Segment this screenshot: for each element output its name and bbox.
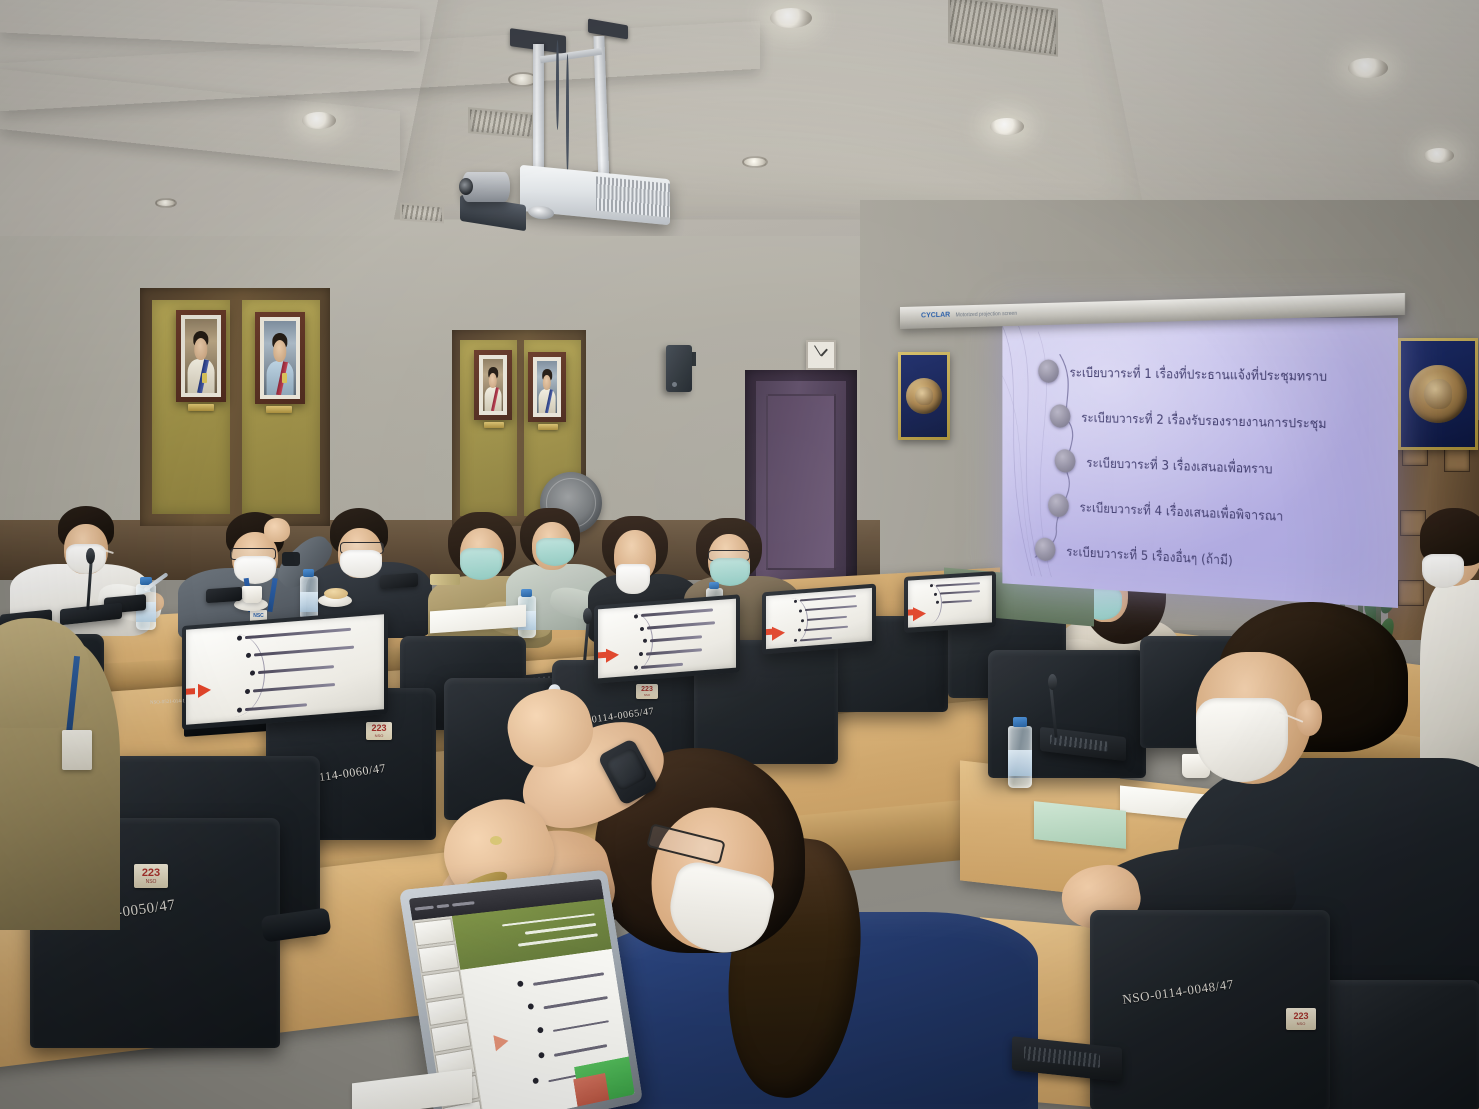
- agenda-list: ระเบียบวาระที่ 1 เรื่องที่ประธานแจ้งที่ป…: [1037, 359, 1391, 603]
- agenda-bullet-icon: [245, 689, 250, 694]
- agenda-bullet-icon: [640, 626, 644, 630]
- monitor-agenda-item: [634, 658, 733, 670]
- agenda-bullet-icon: [639, 652, 643, 656]
- agenda-item-text-line: [936, 582, 980, 587]
- monitor-agenda-item: [930, 581, 990, 588]
- attendee-2-hand: [264, 518, 290, 542]
- monitor-agenda-item: [634, 606, 733, 618]
- sticker-subtext: NSO: [1297, 1021, 1306, 1026]
- agenda-bullet-icon: [1038, 359, 1059, 383]
- agenda-item-text-line: [533, 973, 604, 986]
- slide-arrow-tail: [186, 688, 195, 695]
- agenda-bullet-icon: [799, 609, 802, 612]
- monitor-agenda-item: [798, 623, 870, 632]
- agenda-bullet-icon: [237, 707, 242, 712]
- bottle-cap: [709, 582, 719, 589]
- monitor-agenda-item: [237, 696, 380, 712]
- monitor-agenda-item: [794, 594, 870, 603]
- slide-content: [460, 949, 635, 1109]
- monitor-agenda-item: [640, 619, 733, 630]
- royal-portrait-queen: [255, 312, 305, 404]
- toolbar-item[interactable]: [437, 904, 450, 908]
- attendee-3-face-mask: [340, 550, 382, 578]
- monitor-screen: [186, 614, 384, 725]
- chair-asset-tag: NSO-0114-0048/47: [1121, 976, 1235, 1007]
- agenda-item-text-line: [805, 605, 857, 611]
- monitor-agenda-item: [237, 625, 380, 641]
- royal-portrait-princess: [528, 352, 566, 422]
- agenda-bullet-icon: [798, 629, 801, 632]
- sticker-subtext: NSO: [375, 733, 384, 738]
- microphone-head: [583, 608, 592, 624]
- monitor-agenda-item: [934, 589, 990, 595]
- chair-inventory-sticker: 223 NSO: [1286, 1008, 1316, 1030]
- agenda-item-text-line: [807, 616, 847, 621]
- agenda-bullet-icon: [936, 601, 939, 604]
- toolbar-item[interactable]: [452, 901, 475, 906]
- agenda-item: ระเบียบวาระที่ 4 เรื่องเสนอเพื่อพิจารณา: [1048, 493, 1390, 532]
- monitor-agenda-item: [639, 645, 733, 656]
- agenda-item-text-line: [254, 646, 354, 657]
- agenda-bullet-icon: [934, 592, 937, 595]
- screen-brand-label: CYCLAR Motorized projection screen: [918, 310, 1017, 320]
- agenda-bullet-icon: [1050, 404, 1071, 428]
- office-chair[interactable]: NSO-0114-0048/47 223 NSO: [1090, 910, 1330, 1109]
- agenda-item-text-line: [641, 663, 683, 669]
- monitor-agenda-list: [930, 581, 990, 610]
- agenda-item-text-line: [553, 1020, 609, 1032]
- coffee-cup: [242, 586, 262, 603]
- sticker-subtext: NSO: [146, 879, 157, 885]
- agenda-item-text-line: [258, 665, 334, 674]
- projector-cable: [556, 40, 559, 130]
- monitor-agenda-item: [799, 604, 870, 613]
- desk-monitor[interactable]: [182, 610, 388, 730]
- attendee-6-face-mask-lowered: [616, 564, 650, 594]
- monitor-agenda-list: [794, 594, 870, 649]
- monitor-agenda-item: [801, 614, 870, 622]
- wall-clock: [806, 340, 836, 370]
- portrait-nameplate: [266, 406, 292, 413]
- agenda-bullet-icon: [1048, 493, 1069, 517]
- monitor-screen: [766, 588, 872, 649]
- agenda-item-text-line: [641, 609, 713, 617]
- slide-thumbnail[interactable]: [430, 1022, 471, 1053]
- agenda-item-text-line: [800, 637, 832, 642]
- agenda-item-text-line: [554, 1044, 607, 1056]
- water-bottle: [300, 576, 318, 620]
- attendee-2-face-mask: [234, 556, 276, 584]
- ceiling-downlight: [770, 8, 812, 28]
- agenda-bullet-icon: [538, 1051, 545, 1058]
- agenda-bullet-icon: [527, 1004, 534, 1011]
- portrait-nameplate: [484, 422, 504, 428]
- agenda-item-text-line: [800, 595, 856, 601]
- agenda-item: ระเบียบวาระที่ 5 เรื่องอื่นๆ (ถ้ามี): [1035, 537, 1390, 580]
- monitor-agenda-item: [794, 633, 870, 642]
- camera-lens: [459, 178, 473, 195]
- snack-plate: [324, 588, 348, 599]
- desk-monitor[interactable]: [904, 571, 996, 633]
- monitor-screen: [598, 599, 736, 679]
- agenda-item-label: ระเบียบวาระที่ 1 เรื่องที่ประธานแจ้งที่ป…: [1070, 361, 1328, 386]
- slide-highlight-arrow: [606, 648, 619, 663]
- agenda-bullet-icon: [1055, 449, 1076, 473]
- slide-thumbnail[interactable]: [414, 918, 455, 947]
- document-paper: [352, 1069, 472, 1109]
- smartphone: [206, 587, 242, 604]
- sticker-number: 223: [1293, 1012, 1308, 1021]
- bottle-cap: [521, 589, 532, 597]
- agenda-item-text-line: [940, 590, 980, 594]
- sticker-number: 223: [371, 724, 386, 733]
- attendee-10: [430, 690, 1070, 1109]
- agenda-item-text-line: [245, 703, 307, 711]
- attendee-3: [306, 508, 436, 626]
- agenda-bullet-icon: [634, 614, 638, 618]
- agenda-item: ระเบียบวาระที่ 1 เรื่องที่ประธานแจ้งที่ป…: [1038, 359, 1390, 388]
- ceiling-downlight: [302, 112, 336, 129]
- monitor-agenda-item: [245, 678, 380, 694]
- agenda-bullet-icon: [532, 1077, 539, 1084]
- slide-canvas[interactable]: [451, 898, 634, 1109]
- agenda-bullet-icon: [801, 619, 804, 622]
- slide-highlight-arrow: [772, 625, 785, 640]
- agenda-bullet-icon: [794, 639, 797, 642]
- attendee-11: [0, 600, 140, 930]
- slide-title-line: [518, 933, 599, 946]
- agenda-item-text-line: [253, 683, 335, 692]
- microphone-head: [1048, 674, 1057, 690]
- monitor-agenda-item: [250, 661, 380, 676]
- slide-thumbnail[interactable]: [422, 970, 463, 1000]
- chair-inventory-sticker: 223 NSO: [366, 722, 392, 740]
- bottle-label: [300, 592, 318, 612]
- bronze-medallion-plaque: [898, 352, 950, 440]
- slide-thumbnail[interactable]: [418, 944, 459, 973]
- agenda-item-text-line: [245, 628, 351, 639]
- attendee-5-face-mask: [536, 538, 574, 566]
- agenda-item: ระเบียบวาระที่ 3 เรื่องเสนอเพื่อทราบ: [1055, 449, 1391, 485]
- royal-portrait-princess: [474, 350, 512, 420]
- agenda-bullet-icon: [250, 670, 255, 675]
- portrait-nameplate: [188, 404, 214, 411]
- agenda-bullet-icon: [537, 1027, 544, 1034]
- agenda-bullet-icon: [1035, 537, 1056, 561]
- ceiling-downlight: [990, 118, 1024, 135]
- screen-brand-name: CYCLAR: [921, 312, 950, 320]
- badge-text: NSC: [253, 613, 264, 619]
- attendee-9-face-mask: [1196, 698, 1288, 782]
- portrait-nameplate: [538, 424, 558, 430]
- ceiling-downlight-ring: [155, 198, 177, 208]
- agenda-item-text-line: [646, 648, 702, 655]
- smartphone: [380, 573, 418, 590]
- attendee-4-face-mask: [460, 548, 502, 580]
- projector-vent: [596, 176, 670, 217]
- screen-brand-subtitle: Motorized projection screen: [956, 311, 1017, 319]
- agenda-item-label: ระเบียบวาระที่ 3 เรื่องเสนอเพื่อทราบ: [1086, 451, 1272, 479]
- microphone-head: [86, 548, 95, 564]
- toolbar-item[interactable]: [415, 905, 434, 910]
- agenda-bullet-icon: [246, 653, 251, 658]
- clock-minute-hand: [814, 345, 821, 356]
- conference-room-photo: CYCLAR Motorized projection screen ระเบี…: [0, 0, 1479, 1109]
- agenda-bullet-icon: [237, 636, 242, 641]
- bottle-cap: [303, 569, 314, 577]
- agenda-bullet-icon: [930, 584, 933, 587]
- attendee-9-ear: [1296, 700, 1322, 736]
- slide-highlight-arrow: [913, 607, 926, 622]
- ceiling-downlight: [1348, 58, 1388, 78]
- monitor-screen: [908, 575, 992, 627]
- wall-speaker: [666, 345, 692, 392]
- agenda-item-text-line: [650, 635, 702, 642]
- desk-monitor[interactable]: [594, 594, 740, 683]
- projector-cable: [566, 54, 569, 174]
- slide-highlight-red: [573, 1073, 609, 1106]
- agenda-item-label: ระเบียบวาระที่ 5 เรื่องอื่นๆ (ถ้ามี): [1066, 540, 1232, 570]
- royal-portrait-king: [176, 310, 226, 402]
- agenda-bullet-icon: [517, 980, 524, 987]
- desk-monitor[interactable]: [762, 584, 876, 655]
- sticker-number: 223: [142, 868, 160, 879]
- agenda-item-text-line: [804, 626, 848, 631]
- ceiling-downlight: [1424, 148, 1454, 163]
- monitor-agenda-item: [643, 632, 733, 643]
- slide-title-line: [525, 923, 596, 934]
- agenda-bullet-icon: [643, 639, 647, 643]
- agenda-item-text-line: [942, 599, 972, 603]
- agenda-bullet-icon: [634, 666, 638, 670]
- attendee-10-ring: [490, 836, 502, 845]
- attendee-11-id-badge: [62, 730, 92, 770]
- monitor-agenda-list: [237, 625, 380, 725]
- monitor-agenda-item: [936, 598, 990, 604]
- ceiling-downlight-ring: [742, 156, 768, 168]
- agenda-item-text-line: [543, 996, 608, 1009]
- agenda-bullet-icon: [794, 600, 797, 603]
- agenda-item-label: ระเบียบวาระที่ 4 เรื่องเสนอเพื่อพิจารณา: [1080, 496, 1284, 526]
- wristwatch: [282, 552, 300, 566]
- slide-thumbnail[interactable]: [426, 996, 467, 1026]
- agenda-item-label: ระเบียบวาระที่ 2 เรื่องรับรองรายงานการปร…: [1081, 406, 1326, 433]
- attendee-4-epaulette: [430, 574, 460, 585]
- monitor-agenda-item: [246, 643, 380, 659]
- bronze-medallion-plaque: [1398, 338, 1478, 450]
- monitor-agenda-list: [634, 606, 733, 678]
- attendee-12-face-mask: [1422, 554, 1464, 588]
- slide-highlight-arrow: [198, 683, 211, 698]
- agenda-item-text-line: [647, 621, 715, 629]
- projection-screen: ระเบียบวาระที่ 1 เรื่องที่ประธานแจ้งที่ป…: [1002, 317, 1398, 608]
- agenda-item: ระเบียบวาระที่ 2 เรื่องรับรองรายงานการปร…: [1050, 404, 1391, 437]
- slide-highlight-arrow: [493, 1033, 509, 1051]
- ceiling-air-vent: [400, 202, 444, 223]
